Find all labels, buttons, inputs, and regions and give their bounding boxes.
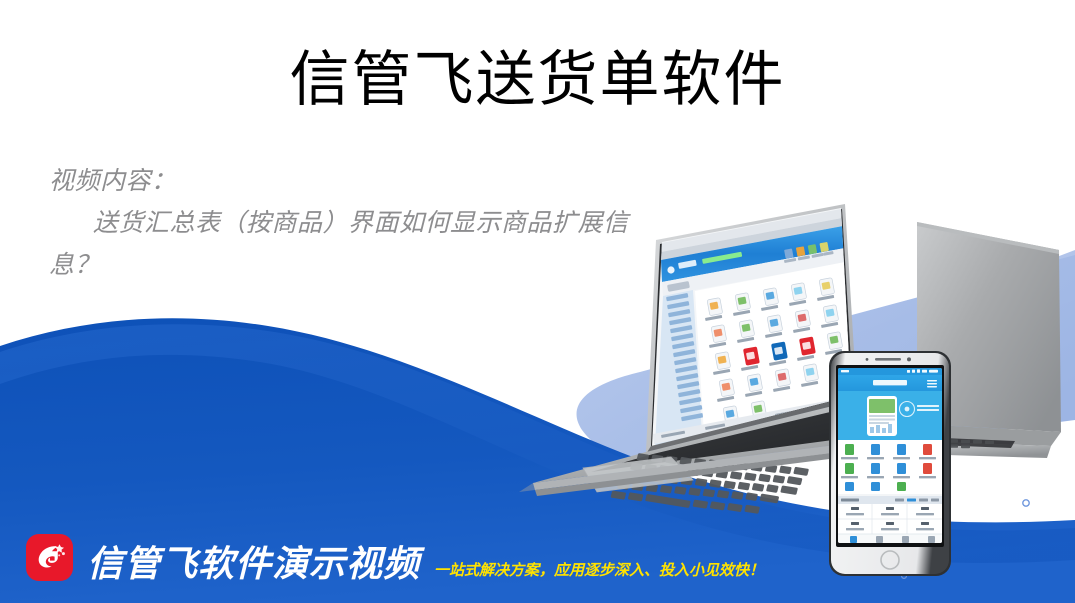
body-lead: 视频内容： <box>49 160 649 202</box>
hamburger-menu-icon <box>927 380 937 388</box>
banner-tagline: 一站式解决方案，应用逐步深入、投入小见效快！ <box>434 562 764 580</box>
slide-title: 信管飞送货单软件 <box>0 44 1075 116</box>
presentation-slide: 信管飞送货单软件 视频内容： 送货汇总表（按商品）界面如何显示商品扩展信息？ 信… <box>0 0 1075 603</box>
bottom-banner: 信管飞软件演示视频 一站式解决方案，应用逐步深入、投入小见效快！ <box>0 517 1075 603</box>
xinguanfei-logo-icon <box>26 534 73 581</box>
body-paragraph: 送货汇总表（按商品）界面如何显示商品扩展信息？ <box>49 202 649 286</box>
slide-body: 视频内容： 送货汇总表（按商品）界面如何显示商品扩展信息？ <box>49 160 649 286</box>
banner-brand-title: 信管飞软件演示视频 <box>87 545 420 583</box>
